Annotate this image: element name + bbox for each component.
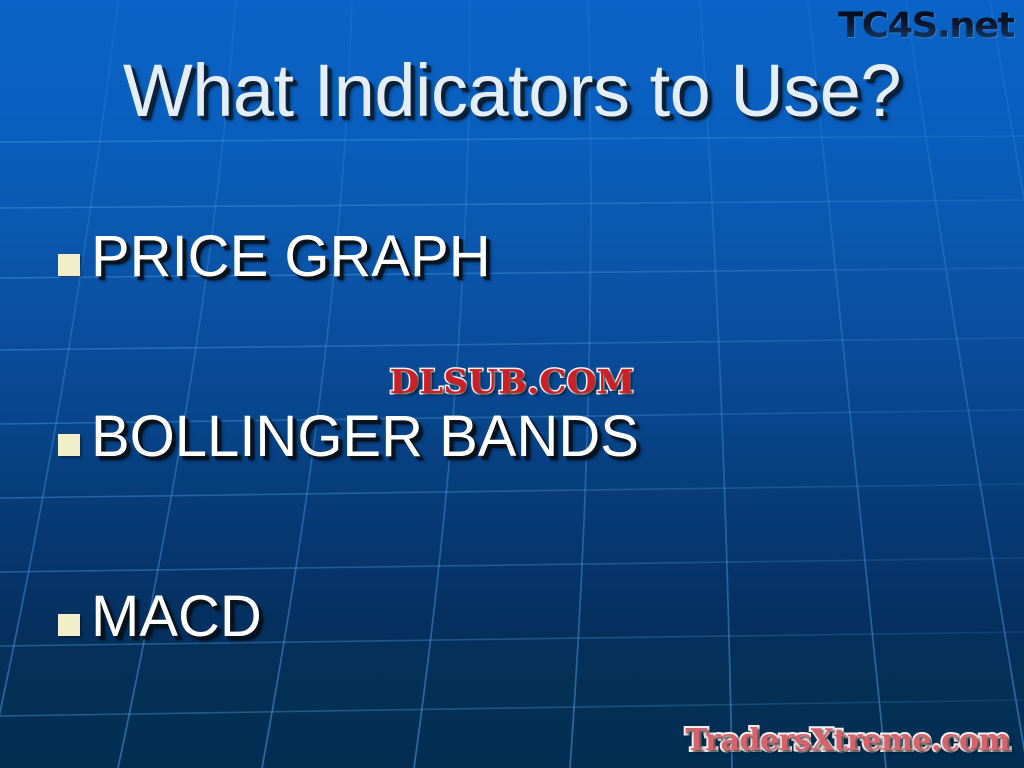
square-bullet-icon	[58, 614, 80, 636]
bullet-item: BOLLINGER BANDS	[58, 408, 639, 466]
square-bullet-icon	[58, 434, 80, 456]
bullet-item: MACD	[58, 588, 262, 646]
dlsub-watermark: DLSUB.COM	[0, 362, 1024, 401]
square-bullet-icon	[58, 254, 80, 276]
bullet-label: MACD	[91, 588, 262, 646]
tradersxtreme-logo: TradersXtreme.com	[685, 723, 1010, 758]
bullet-label: PRICE GRAPH	[91, 228, 491, 286]
bullet-label: BOLLINGER BANDS	[91, 408, 639, 466]
slide-title: What Indicators to Use?	[0, 52, 1024, 130]
bullet-item: PRICE GRAPH	[58, 228, 491, 286]
presentation-slide: TC4S.net What Indicators to Use? PRICE G…	[0, 0, 1024, 768]
tc4s-logo: TC4S.net	[838, 6, 1014, 46]
